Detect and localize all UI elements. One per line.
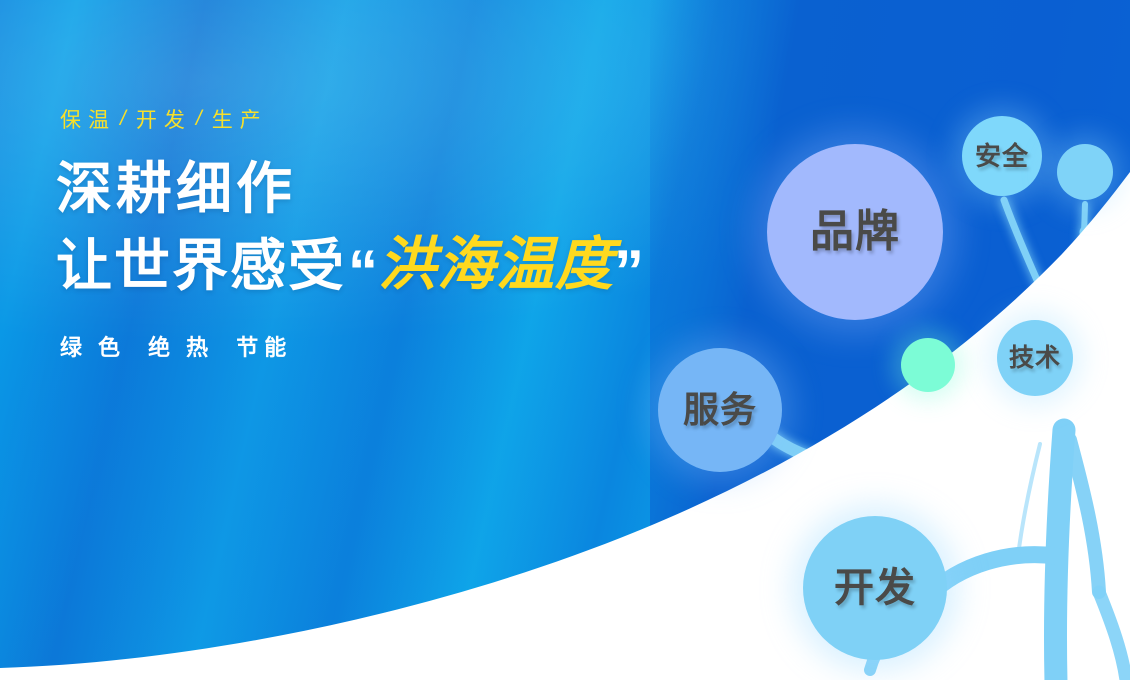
subline-item-2: 绝热	[148, 335, 224, 360]
bubble-anquan[interactable]: 安全	[962, 116, 1042, 196]
subline-item-3: 节能	[236, 335, 292, 360]
subline-item-1: 绿色	[60, 335, 136, 360]
headline-block: 保温 / 开发 / 生产 深耕细作 让世界感受 “ 洪海温度 ” 绿色 绝热 节…	[56, 104, 796, 362]
bubble-label-fuwu: 服务	[683, 392, 757, 428]
headline-white-prefix: 让世界感受	[56, 237, 346, 296]
subline-keywords: 绿色 绝热 节能	[60, 330, 796, 362]
bubble-label-kaifa: 开发	[834, 568, 916, 608]
bubble-label-jishu: 技术	[1009, 346, 1061, 371]
eyebrow-tagline: 保温 / 开发 / 生产	[60, 104, 796, 134]
bubble-mint-accent[interactable]	[901, 338, 955, 392]
bubble-kaifa[interactable]: 开发	[803, 516, 947, 660]
headline-line-2: 让世界感受 “ 洪海温度 ”	[56, 235, 796, 296]
eyebrow-separator-1: /	[116, 107, 136, 131]
bubble-plain-small[interactable]	[1057, 144, 1113, 200]
headline-line-1: 深耕细作	[56, 160, 796, 219]
eyebrow-item-3: 生产	[212, 104, 268, 134]
hero-banner: 品牌 安全 技术 服务 开发 保温 / 开发 / 生产 深耕细作 让世界感受 “…	[0, 0, 1130, 680]
quote-close-mark: ”	[614, 242, 644, 302]
bubble-label-pinpai: 品牌	[810, 210, 900, 254]
eyebrow-item-1: 保温	[60, 104, 116, 134]
eyebrow-item-2: 开发	[136, 104, 192, 134]
eyebrow-separator-2: /	[192, 107, 212, 131]
headline-highlight: 洪海温度	[378, 235, 614, 296]
bubble-jishu[interactable]: 技术	[997, 320, 1073, 396]
bubble-label-anquan: 安全	[975, 143, 1029, 169]
quote-open-mark: “	[348, 242, 378, 302]
bubble-fuwu[interactable]: 服务	[658, 348, 782, 472]
